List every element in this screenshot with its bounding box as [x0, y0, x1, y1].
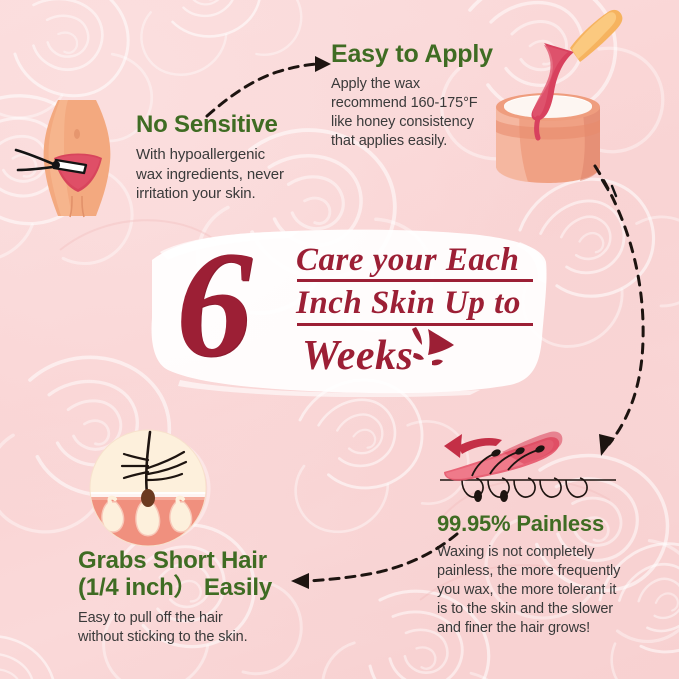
flourish-burst-icon — [398, 325, 458, 369]
center-banner: 6 Care your Each Inch Skin Up to Weeks — [150, 222, 550, 397]
banner-number: 6 — [176, 228, 252, 380]
dashed-arrow-down-icon — [575, 160, 679, 460]
banner-line-2: Inch Skin Up to — [296, 285, 521, 322]
painless-body: Waxing is not completely painless, the m… — [437, 543, 652, 639]
feature-grabs-short-hair: Grabs Short Hair (1/4 inch） Easily Easy … — [78, 548, 318, 647]
skin-hair-follicle-cross-section-illustration — [62, 426, 234, 554]
easy-to-apply-body: Apply the wax recommend 160-175°F like h… — [331, 75, 531, 152]
wax-strip-pulling-hair-illustration — [432, 424, 624, 520]
no-sensitive-body: With hypoallergenic wax ingredients, nev… — [136, 145, 346, 204]
feature-painless: 99.95% Painless Waxing is not completely… — [437, 512, 652, 638]
bikini-waxing-illustration — [12, 96, 142, 218]
feature-easy-to-apply: Easy to Apply Apply the wax recommend 16… — [331, 40, 531, 152]
easy-to-apply-heading: Easy to Apply — [331, 40, 531, 68]
grabs-short-hair-heading: Grabs Short Hair (1/4 inch） Easily — [78, 548, 318, 602]
banner-line-3: Weeks — [302, 332, 413, 380]
infographic-poster: 6 Care your Each Inch Skin Up to Weeks N… — [0, 0, 679, 679]
grabs-short-hair-body: Easy to pull off the hair without sticki… — [78, 609, 318, 647]
feature-no-sensitive: No Sensitive With hypoallergenic wax ing… — [136, 112, 346, 204]
painless-heading: 99.95% Painless — [437, 512, 652, 537]
banner-line-1: Care your Each — [296, 242, 519, 279]
dashed-arrow-right-icon — [205, 30, 335, 120]
no-sensitive-heading: No Sensitive — [136, 112, 346, 139]
banner-rule-1 — [297, 279, 533, 282]
